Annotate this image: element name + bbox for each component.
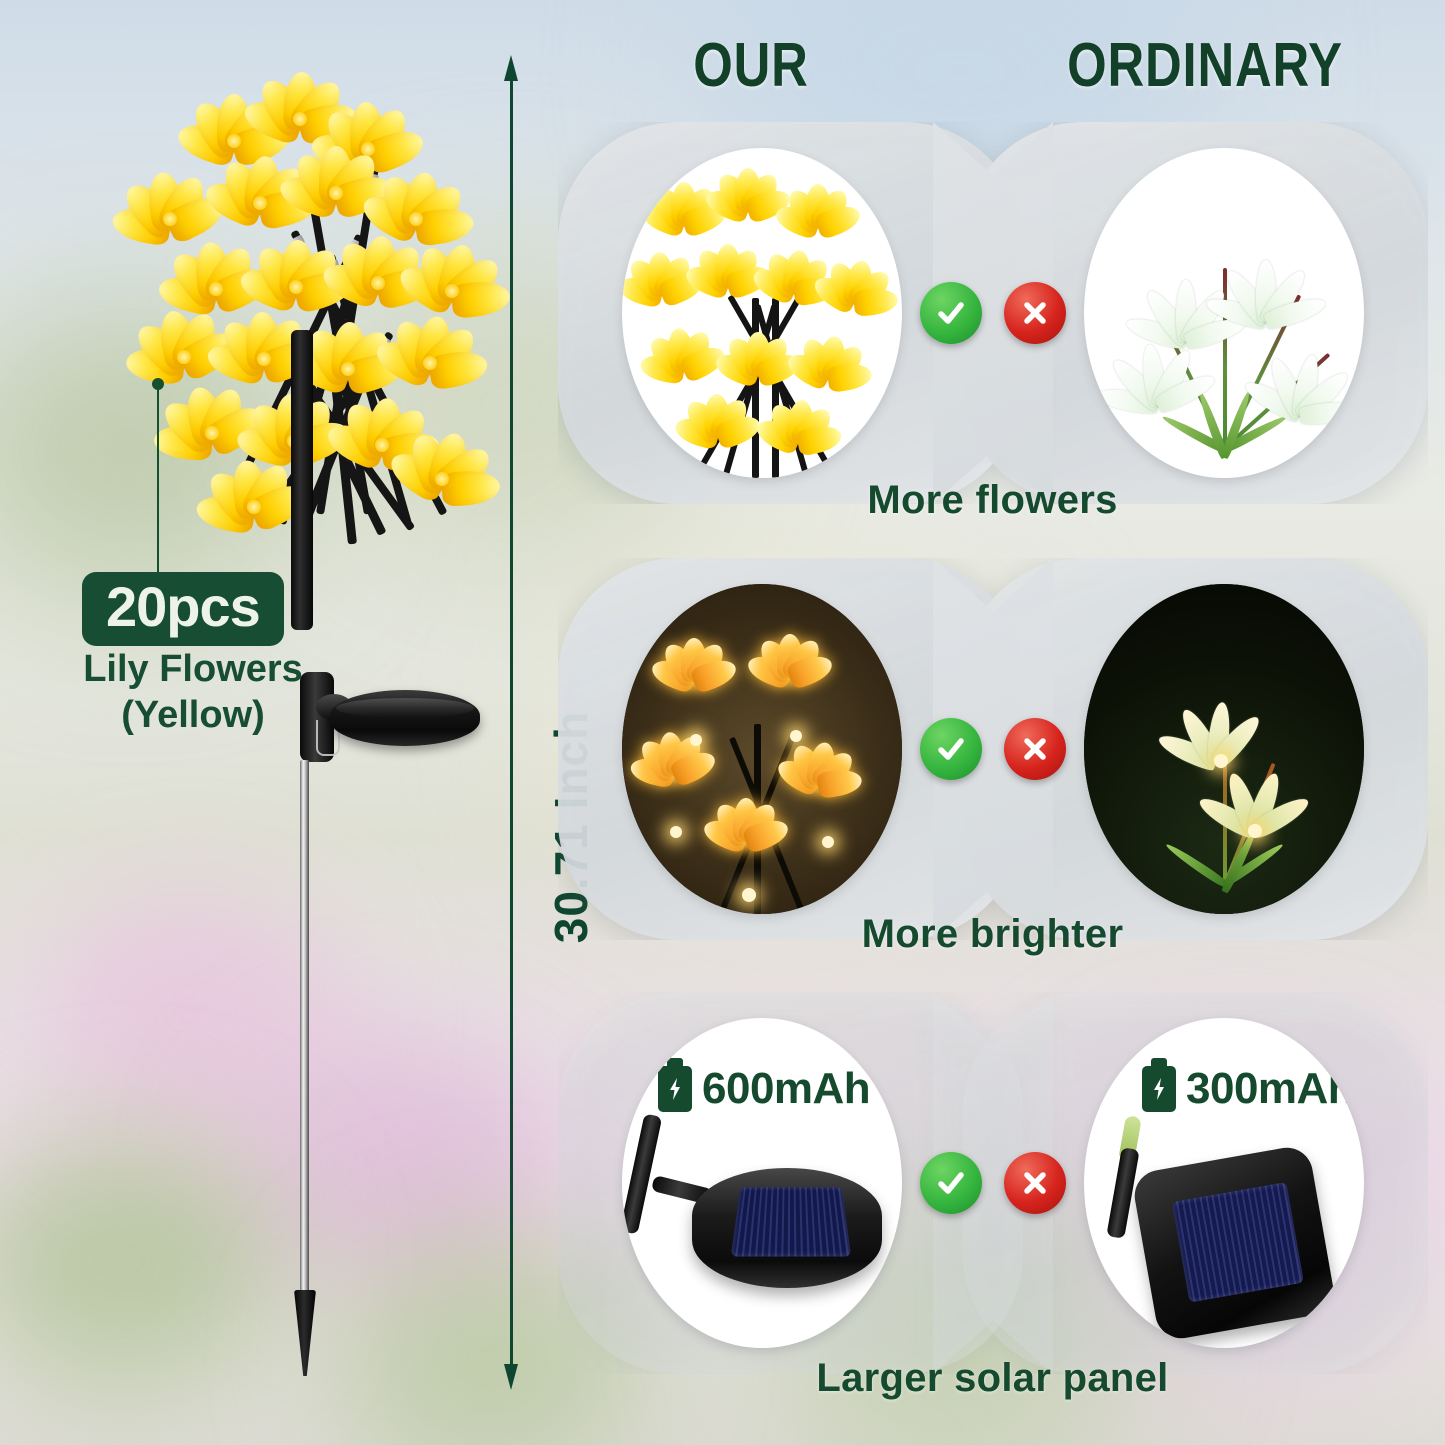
solar-panel-disc bbox=[330, 690, 480, 746]
ground-stake-pole bbox=[300, 760, 309, 1310]
glowing-bouquet-art bbox=[622, 584, 902, 914]
cross-icon bbox=[1004, 282, 1066, 344]
ordinary-solar-photo: 300mAh bbox=[1084, 1018, 1364, 1348]
height-dimension-arrow bbox=[504, 55, 518, 1390]
infographic-canvas: 20pcs Lily Flowers (Yellow) 30.71 Inch O… bbox=[0, 0, 1445, 1445]
check-icon bbox=[920, 718, 982, 780]
header-ordinary: ORDINARY bbox=[1029, 30, 1382, 101]
lily-leaf bbox=[1164, 841, 1227, 888]
square-solar-panel bbox=[1131, 1144, 1338, 1343]
round-solar-panel bbox=[692, 1168, 882, 1288]
check-icon bbox=[920, 282, 982, 344]
our-brightness-photo bbox=[622, 584, 902, 914]
white-lily-art bbox=[1084, 148, 1364, 478]
badge-subtitle-line-2: (Yellow) bbox=[58, 692, 328, 738]
caption-more-flowers: More flowers bbox=[540, 478, 1445, 523]
ground-stake-tip bbox=[294, 1290, 316, 1376]
ordinary-battery-label: 300mAh bbox=[1142, 1064, 1354, 1114]
led-spark bbox=[790, 730, 802, 742]
badge-subtitle-line-1: Lily Flowers bbox=[58, 646, 328, 692]
comparison-column: OUR ORDINARY bbox=[540, 0, 1445, 1445]
caption-more-brighter: More brighter bbox=[540, 912, 1445, 957]
our-solar-photo: 600mAh bbox=[622, 1018, 902, 1348]
comparison-headers: OUR ORDINARY bbox=[540, 30, 1445, 116]
cross-icon bbox=[1004, 1152, 1066, 1214]
cross-icon bbox=[1004, 718, 1066, 780]
comparison-row-solar: 600mAh bbox=[558, 992, 1428, 1374]
caption-larger-solar-panel: Larger solar panel bbox=[540, 1356, 1445, 1401]
led-spark bbox=[1248, 824, 1262, 838]
dim-white-lily-art bbox=[1084, 584, 1364, 914]
quantity-badge: 20pcs bbox=[82, 572, 284, 646]
led-spark bbox=[690, 734, 702, 746]
our-battery-value: 600mAh bbox=[702, 1064, 870, 1114]
product-illustration: 20pcs Lily Flowers (Yellow) bbox=[0, 0, 560, 1445]
solar-arm bbox=[622, 1113, 662, 1234]
solar-cell bbox=[731, 1187, 851, 1256]
our-flowers-photo bbox=[622, 148, 902, 478]
comparison-row-flowers bbox=[558, 122, 1428, 504]
main-trunk bbox=[291, 330, 313, 630]
ordinary-battery-value: 300mAh bbox=[1186, 1064, 1354, 1114]
yellow-bouquet-art bbox=[622, 148, 902, 478]
check-icon bbox=[920, 1152, 982, 1214]
arrow-down-icon bbox=[504, 1364, 518, 1390]
led-spark bbox=[670, 826, 682, 838]
our-battery-label: 600mAh bbox=[658, 1064, 870, 1114]
quantity-badge-subtitle: Lily Flowers (Yellow) bbox=[58, 646, 328, 739]
callout-line bbox=[157, 388, 159, 578]
verdict-marks bbox=[920, 282, 1066, 344]
led-spark bbox=[822, 836, 834, 848]
verdict-marks bbox=[920, 718, 1066, 780]
verdict-marks bbox=[920, 1152, 1066, 1214]
led-spark bbox=[1214, 754, 1228, 768]
battery-bolt-icon bbox=[1142, 1066, 1176, 1112]
header-our: OUR bbox=[649, 30, 854, 101]
ordinary-brightness-photo bbox=[1084, 584, 1364, 914]
yellow-lily-bouquet bbox=[48, 44, 478, 604]
dimension-line bbox=[510, 77, 513, 1369]
battery-bolt-icon bbox=[658, 1066, 692, 1112]
solar-cell bbox=[1172, 1182, 1304, 1303]
led-spark bbox=[742, 888, 756, 902]
comparison-row-brightness bbox=[558, 558, 1428, 940]
ordinary-flowers-photo bbox=[1084, 148, 1364, 478]
